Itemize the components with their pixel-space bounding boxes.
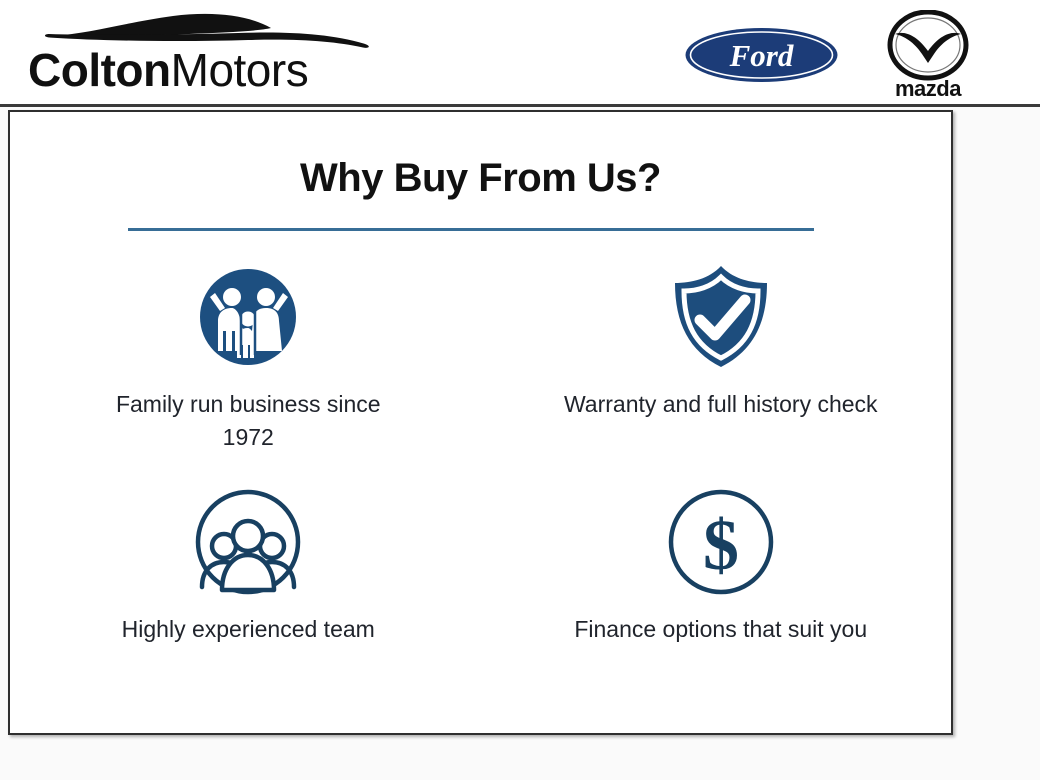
benefits-grid: Family run business since 1972 Warranty … [30,262,935,712]
svg-text:$: $ [703,505,739,585]
dealer-name-light: Motors [171,44,309,96]
team-people-circle-icon [192,487,304,597]
benefit-item-family: Family run business since 1972 [22,262,475,487]
benefit-icon-wrapper: $ [665,487,777,597]
benefit-item-team: Highly experienced team [22,487,475,712]
why-buy-panel: Why Buy From Us? [8,110,953,735]
benefit-icon-wrapper [192,487,304,597]
benefit-icon-wrapper [194,262,302,372]
benefit-item-finance: $ Finance options that suit you [495,487,948,712]
benefit-icon-wrapper [665,262,777,372]
benefit-label: Family run business since 1972 [88,388,408,454]
benefit-label: Warranty and full history check [561,388,881,421]
benefit-label: Finance options that suit you [561,613,881,646]
dealer-logo[interactable]: ColtonMotors [28,4,388,102]
title-divider [128,228,814,231]
brand-header: ColtonMotors Ford mazda [0,0,1040,107]
dollar-circle-icon: $ [665,487,777,597]
mazda-wing-logo[interactable]: mazda [868,10,988,102]
dealer-name-bold: Colton [28,44,171,96]
benefit-item-warranty: Warranty and full history check [495,262,948,487]
mazda-wordmark: mazda [895,76,962,101]
benefit-label: Highly experienced team [88,613,408,646]
family-group-icon [194,267,302,367]
ford-oval-logo[interactable]: Ford [684,27,839,83]
ford-wordmark: Ford [729,38,794,73]
page-title: Why Buy From Us? [10,156,951,201]
dealer-wordmark: ColtonMotors [28,44,308,96]
shield-check-icon [665,263,777,371]
